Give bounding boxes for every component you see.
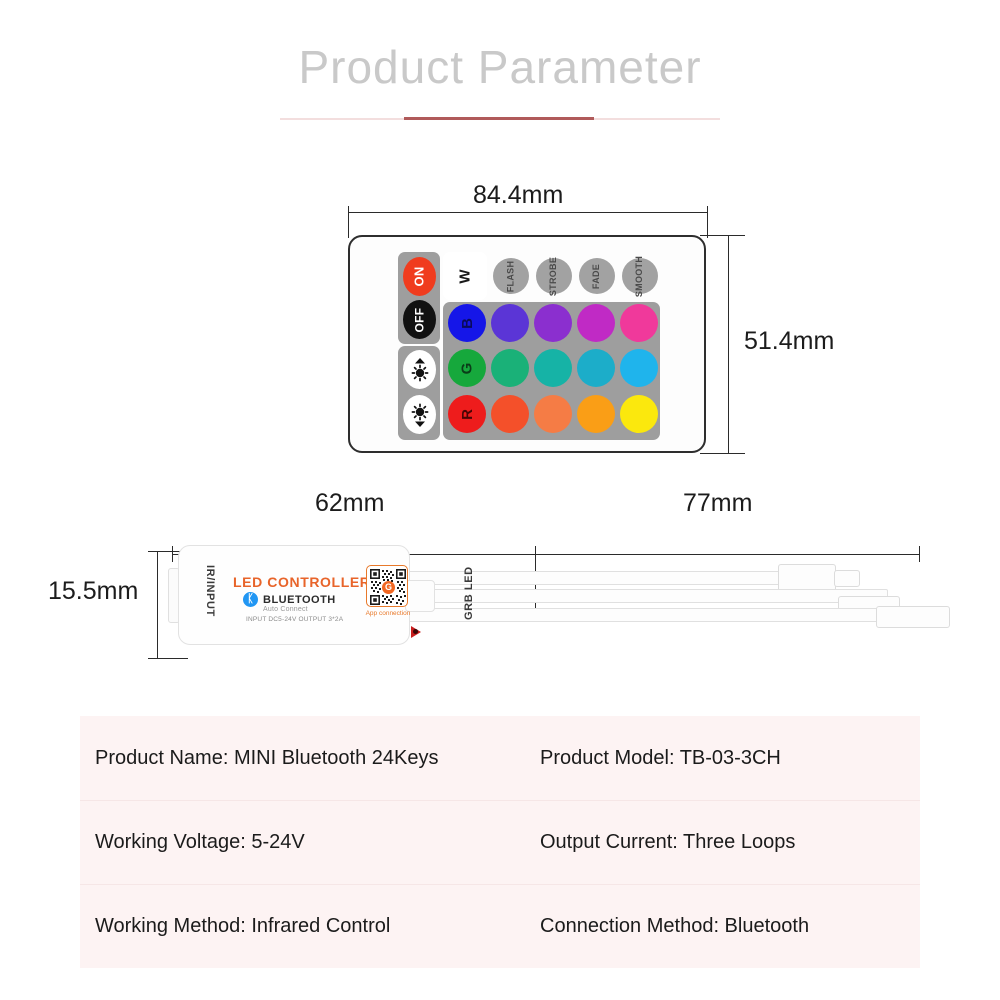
remote-button-on-label: ON (413, 266, 426, 286)
controller-body-length-label: 62mm (315, 489, 384, 518)
remote-body: ON OFF (348, 235, 706, 453)
page-title: Product Parameter (0, 40, 1000, 94)
bluetooth-row: ᛕ BLUETOOTH (243, 592, 336, 607)
remote-height-tick-bottom (700, 453, 745, 454)
output-connector-bottom (876, 606, 950, 628)
sun-up-icon (409, 357, 431, 383)
remote-color-r2[interactable] (534, 395, 572, 433)
remote-keypad: ON OFF (398, 252, 660, 440)
qr-caption: App connection (362, 610, 414, 617)
remote-height-label: 51.4mm (744, 327, 834, 356)
controller-dim-tick-left (172, 546, 173, 562)
controller-output-tip (405, 580, 435, 612)
remote-color-b1[interactable] (491, 304, 529, 342)
remote-button-brightness-down[interactable] (403, 395, 436, 434)
remote-color-b2[interactable] (534, 304, 572, 342)
qr-code[interactable]: G (366, 565, 408, 607)
title-underline-accent (404, 117, 594, 120)
remote-width-tick-right (707, 206, 708, 238)
remote-color-r4[interactable] (620, 395, 658, 433)
spec-row-1: Product Name: MINI Bluetooth 24Keys Prod… (80, 716, 920, 800)
controller-output-label: GRB LED (463, 566, 475, 620)
spec-connection-method: Connection Method: Bluetooth (540, 915, 809, 938)
spec-product-model: Product Model: TB-03-3CH (540, 747, 781, 770)
controller-height-tick-bottom (148, 658, 188, 659)
output-cable-bottom (408, 608, 878, 622)
remote-button-red[interactable]: R (448, 395, 486, 433)
remote-button-blue[interactable]: B (448, 304, 486, 342)
remote-color-r1[interactable] (491, 395, 529, 433)
remote-width-tick-left (348, 206, 349, 238)
remote-button-white[interactable]: W (448, 256, 482, 296)
spec-working-method: Working Method: Infrared Control (95, 915, 390, 938)
output-cable-mid (408, 589, 888, 603)
controller-input-label: IR/INPUT (204, 565, 216, 617)
spec-row-3: Working Method: Infrared Control Connect… (80, 884, 920, 968)
output-connector-top-tip (834, 570, 860, 587)
spec-working-voltage: Working Voltage: 5-24V (95, 831, 305, 854)
spec-output-current: Output Current: Three Loops (540, 831, 795, 854)
remote-height-tick-top (700, 235, 745, 236)
remote-button-smooth[interactable]: SMOOTH (622, 258, 658, 294)
remote-color-r3[interactable] (577, 395, 615, 433)
remote-button-green[interactable]: G (448, 349, 486, 387)
remote-button-smooth-label: SMOOTH (636, 255, 645, 296)
remote-height-dim-line (728, 235, 729, 453)
controller-height-dim-line (157, 551, 158, 659)
controller-electrical-specs: INPUT DC5-24V OUTPUT 3*2A (246, 616, 343, 623)
remote-color-g2[interactable] (534, 349, 572, 387)
controller-title: LED CONTROLLER (233, 574, 371, 590)
remote-color-g4[interactable] (620, 349, 658, 387)
remote-button-strobe-label: STROBE (550, 256, 559, 295)
sun-down-icon (409, 402, 431, 428)
remote-color-b3[interactable] (577, 304, 615, 342)
remote-color-b4[interactable] (620, 304, 658, 342)
remote-button-off-label: OFF (414, 307, 426, 332)
remote-button-red-label: R (460, 409, 475, 420)
spec-row-2: Working Voltage: 5-24V Output Current: T… (80, 800, 920, 884)
spec-product-name: Product Name: MINI Bluetooth 24Keys (95, 747, 439, 770)
remote-button-brightness-up[interactable] (403, 350, 436, 389)
remote-button-off[interactable]: OFF (403, 300, 436, 339)
bluetooth-sublabel: Auto Connect (263, 606, 308, 613)
remote-button-flash[interactable]: FLASH (493, 258, 529, 294)
remote-button-flash-label: FLASH (507, 260, 516, 292)
remote-button-white-label: W (457, 269, 472, 283)
bluetooth-icon: ᛕ (243, 592, 258, 607)
remote-button-blue-label: B (460, 318, 475, 329)
spec-table: Product Name: MINI Bluetooth 24Keys Prod… (80, 716, 920, 968)
remote-color-g1[interactable] (491, 349, 529, 387)
controller-height-label: 15.5mm (48, 577, 138, 606)
remote-button-on[interactable]: ON (403, 257, 436, 296)
controller-dim-tick-right (919, 546, 920, 562)
remote-button-strobe[interactable]: STROBE (536, 258, 572, 294)
remote-button-fade[interactable]: FADE (579, 258, 615, 294)
controller-cable-length-label: 77mm (683, 489, 752, 518)
remote-button-fade-label: FADE (592, 263, 601, 288)
product-parameter-page: Product Parameter 84.4mm 51.4mm ON (0, 0, 1000, 1000)
remote-color-g3[interactable] (577, 349, 615, 387)
bluetooth-label: BLUETOOTH (263, 594, 336, 606)
remote-button-green-label: G (459, 362, 474, 374)
remote-width-dim-line (348, 212, 707, 213)
qr-center-logo: G (382, 581, 395, 594)
remote-width-label: 84.4mm (473, 181, 563, 210)
direction-triangle-dot (413, 629, 418, 634)
output-connector-top (778, 564, 836, 592)
